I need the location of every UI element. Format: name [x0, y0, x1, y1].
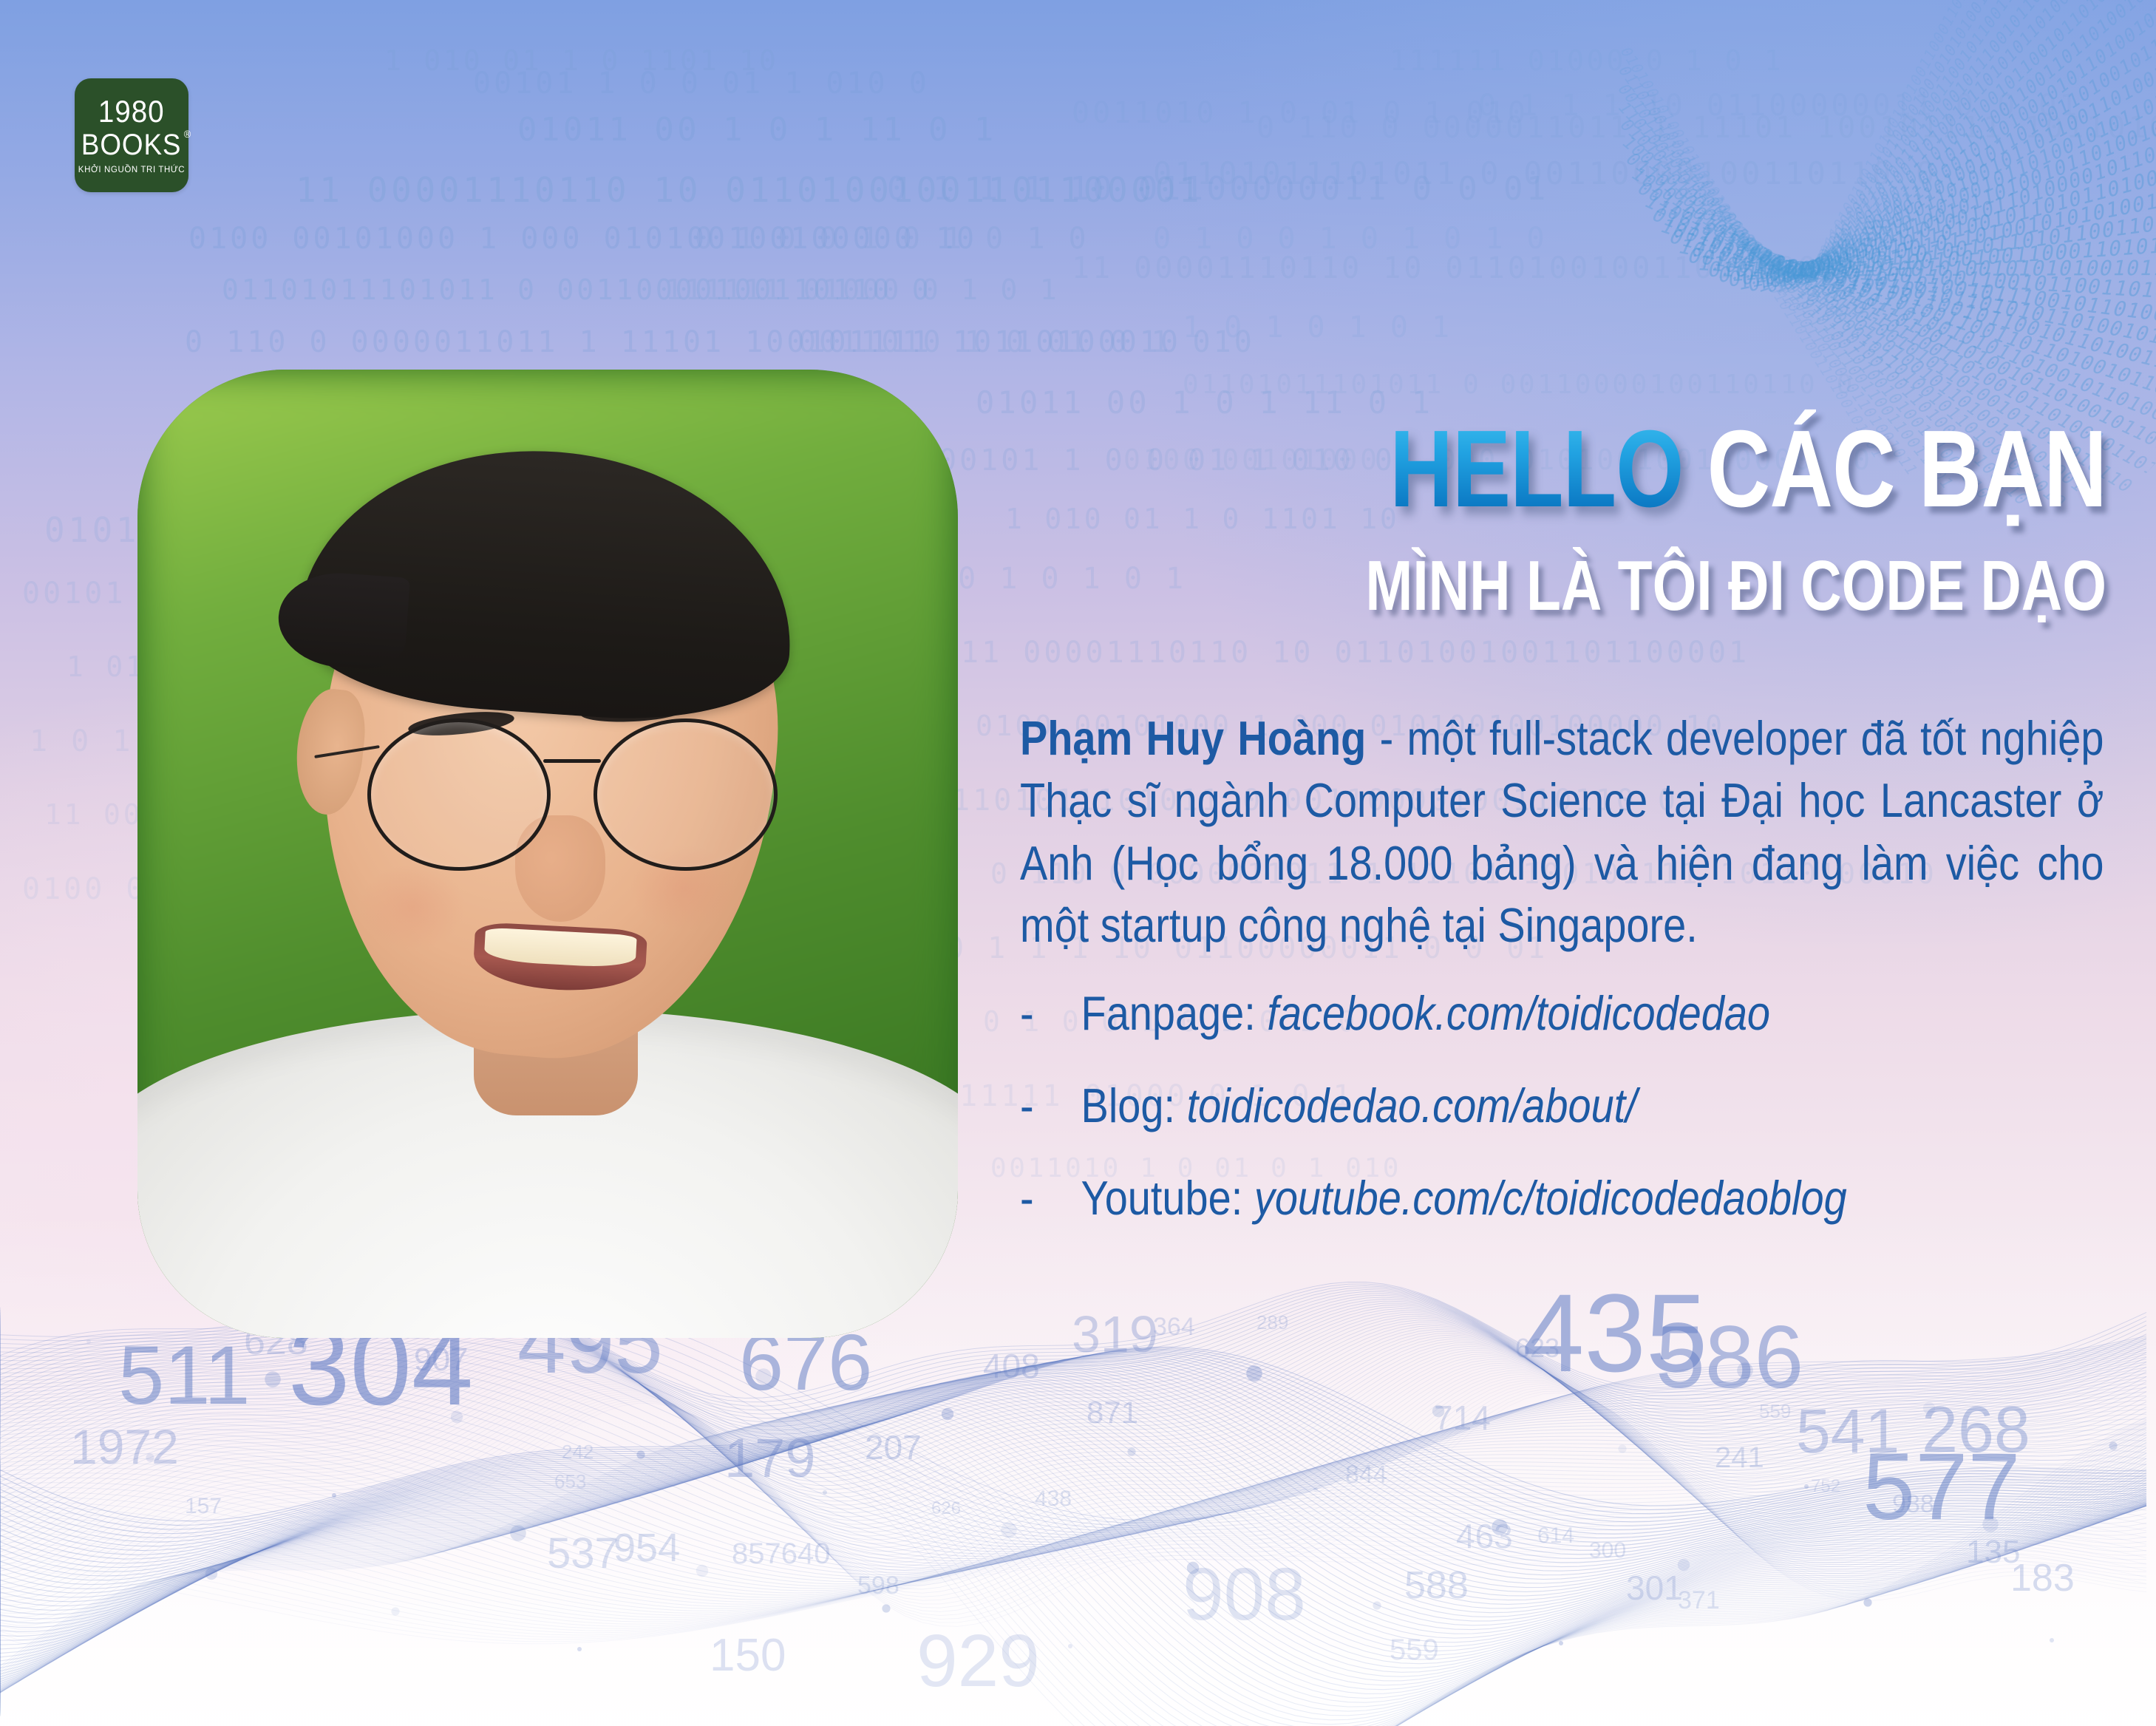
- binary-text-fragment: 11 00001110110 10 01101001001101100001: [1072, 251, 1860, 285]
- binary-text-fragment: 00101 1 0 0 01 1 010 0: [473, 67, 930, 101]
- wave-dot: [2050, 1638, 2054, 1642]
- wave-number: 241: [1715, 1441, 1764, 1475]
- wave-line: [0, 1366, 2146, 1594]
- globe-binary-ring: 1101001011010010110100101010100101001010…: [1738, 142, 2156, 296]
- binary-text-fragment: 111111 01000 0 1 0 1: [665, 273, 1060, 306]
- wave-line: [0, 1358, 2146, 1563]
- wave-line: [0, 1335, 2146, 1509]
- wave-dot: [1068, 1644, 1072, 1648]
- globe-binary-ring: 1010010110100110100101101010110100101101…: [1807, 0, 2156, 279]
- wave-line: [0, 1349, 2146, 1529]
- wave-number: 588: [1404, 1563, 1469, 1608]
- headline-rest: CÁC BẠN: [1707, 408, 2106, 530]
- wave-line: [0, 1373, 2146, 1619]
- wave-line: [0, 1505, 2146, 1624]
- wave-number: 150: [710, 1629, 786, 1682]
- wave-line: [0, 1356, 2146, 1555]
- wave-dot: [1432, 1405, 1444, 1417]
- wave-line: [0, 1425, 2146, 1726]
- wave-line: [0, 1360, 2146, 1572]
- wave-line: [0, 1427, 2146, 1726]
- wave-line: [0, 1396, 2146, 1574]
- bio-block: Phạm Huy Hoàng - một full-stack develope…: [1020, 707, 2106, 1225]
- wave-line: [0, 1365, 2146, 1589]
- wave-line: [0, 1481, 2146, 1614]
- binary-text-fragment: 0 1 0 0 1 0 1 0 1 0: [695, 222, 1089, 256]
- wave-dot: [636, 1450, 645, 1458]
- wave-line: [0, 1365, 2146, 1586]
- wave-line: [0, 1328, 2146, 1494]
- wave-line: [0, 1392, 2146, 1573]
- wave-dot: [391, 1607, 399, 1615]
- globe-binary-ring: 1001101001011010010110100001011010010110…: [1756, 68, 2156, 299]
- globe-binary-ring: 0010110100101101001011010110011001100110…: [1727, 180, 2156, 292]
- wave-number: 752: [1811, 1476, 1840, 1497]
- wave-dot: [1618, 1444, 1626, 1453]
- wave-dot: [1246, 1365, 1262, 1382]
- wave-line: [0, 1376, 2146, 1631]
- binary-text-fragment: 11 00001110110 10 01101001001101100001: [296, 170, 1203, 210]
- wave-line: [0, 1378, 2146, 1614]
- wave-line: [0, 1341, 2146, 1521]
- wave-number: 559: [1759, 1400, 1791, 1423]
- wave-number: 598: [857, 1572, 900, 1600]
- wave-dot: [1373, 1601, 1381, 1609]
- wave-line: [0, 1359, 2146, 1572]
- wave-number: 577: [1863, 1433, 2021, 1541]
- wave-line: [0, 1392, 2146, 1677]
- link-blog[interactable]: -Blog:toidicodedao.com/about/: [1020, 1079, 2104, 1133]
- link-fanpage[interactable]: -Fanpage:facebook.com/toidicodedao: [1020, 987, 2104, 1041]
- wave-dot: [510, 1525, 526, 1541]
- globe-binary-ring: 0110011010010110100110010110010110100110…: [1665, 225, 2156, 410]
- wave-line: [0, 1365, 2146, 1558]
- wave-line: [0, 1380, 2146, 1617]
- wave-number: 929: [917, 1619, 1040, 1704]
- wave-line: [0, 1400, 2146, 1577]
- wave-line: [0, 1530, 2146, 1635]
- link-url[interactable]: toidicodedao.com/about/: [1187, 1079, 1637, 1133]
- binary-text-fragment: 0 110 0 0000011011 1 11101 100101111 101…: [1256, 111, 2156, 145]
- wave-dot: [1678, 1559, 1690, 1571]
- wave-dot: [1804, 1484, 1809, 1489]
- wave-line: [0, 1352, 2146, 1552]
- wave-line: [0, 1549, 2146, 1643]
- wave-number: 614: [1537, 1523, 1574, 1549]
- wave-line: [0, 1525, 2146, 1633]
- wave-line: [0, 1345, 2146, 1532]
- link-url[interactable]: facebook.com/toidicodedao: [1267, 987, 1770, 1041]
- wave-dot: [1001, 1522, 1017, 1538]
- wave-line: [0, 1450, 2146, 1600]
- wave-number: 157: [185, 1494, 222, 1519]
- wave-number: 300: [1589, 1538, 1626, 1563]
- binary-text-fragment: 01101011101011 0 00110000100110110 0: [1153, 155, 1938, 191]
- wave-dot: [451, 1411, 463, 1423]
- globe-binary-ring: 1100101101001101001011010011010010110100…: [1786, 0, 2156, 295]
- link-url[interactable]: youtube.com/c/toidicodedaoblog: [1254, 1172, 1847, 1226]
- wave-line: [0, 1348, 2146, 1526]
- wave-line: [0, 1427, 2146, 1726]
- globe-binary-ring: 0110100100110100100100110001101011010010…: [1717, 218, 2156, 288]
- round-glasses-icon: [367, 718, 778, 864]
- wave-line: [0, 1362, 2146, 1576]
- binary-text-fragment: 0011010 1 0 01 0 1 010: [1072, 96, 1528, 130]
- wave-line: [0, 1321, 2146, 1532]
- wave-line: [0, 1428, 2146, 1726]
- wave-line: [0, 1416, 2146, 1726]
- hair: [293, 435, 802, 730]
- wave-line: [0, 1411, 2146, 1725]
- wave-line: [0, 1337, 2146, 1513]
- wave-line: [0, 1420, 2146, 1726]
- wave-line: [0, 1369, 2146, 1606]
- wave-line: [0, 1370, 2146, 1561]
- wave-line: [0, 1356, 2146, 1555]
- wave-number: 714: [1434, 1398, 1491, 1438]
- binary-text-fragment: 0 1 1 1 10 01100000011 0 0 01: [1478, 89, 2080, 123]
- wave-line: [0, 1418, 2146, 1726]
- wave-number: 907: [414, 1342, 468, 1379]
- wave-line: [0, 1370, 2146, 1611]
- wave-line: [0, 1421, 2146, 1726]
- wave-line: [0, 1407, 2146, 1711]
- wave-line: [0, 1375, 2146, 1627]
- wave-line: [0, 1535, 2146, 1637]
- wave-line: [0, 1470, 2146, 1608]
- wave-dot: [1737, 1362, 1753, 1379]
- wave-number: 179: [724, 1427, 815, 1489]
- wave-line: [0, 1475, 2146, 1611]
- globe-binary-ring: 0101011010010110100101101011010010011010…: [1747, 104, 2156, 297]
- wave-line: [0, 1393, 2146, 1645]
- wave-line: [0, 1384, 2146, 1568]
- binary-text-fragment: 0100 00101000 1 000 010100100100000 10: [188, 222, 977, 256]
- wave-line: [0, 1390, 2146, 1674]
- wave-line: [0, 1404, 2146, 1702]
- binary-text-fragment: 01101011101011 0 00110000100110110 0: [1183, 370, 1855, 400]
- wave-line: [0, 1521, 2146, 1631]
- wave-line: [0, 1445, 2146, 1598]
- wave-line: [0, 1317, 2146, 1530]
- wave-dot: [1923, 1402, 1935, 1414]
- wave-line: [0, 1361, 2146, 1576]
- lens-left: [367, 718, 551, 872]
- binary-text-fragment: 0 1 0 0 1 0 1 0 1 0: [1153, 222, 1548, 256]
- wave-number: 954: [613, 1525, 680, 1571]
- wave-number: 586: [1656, 1306, 1803, 1408]
- glasses-bridge: [543, 759, 601, 763]
- wave-dot: [1559, 1641, 1563, 1645]
- wave-line: [0, 1424, 2146, 1726]
- globe-binary-ring: 0011011010010110100101101100110100101101…: [1780, 0, 2156, 296]
- wave-line: [0, 1420, 2146, 1726]
- globe-binary-ring: 0110100101101001011010010110100101101001…: [1764, 33, 2156, 299]
- wave-line: [0, 1384, 2146, 1657]
- wave-line: [0, 1347, 2146, 1521]
- wave-dot: [205, 1568, 217, 1580]
- wave-line: [0, 1495, 2146, 1620]
- wave-dot: [1127, 1447, 1135, 1455]
- headline-highlight: HELLO: [1390, 408, 1683, 530]
- wave-line: [0, 1393, 2146, 1679]
- wave-line: [0, 1404, 2146, 1579]
- list-bullet: -: [1020, 987, 1081, 1041]
- binary-text-fragment: 111111 01000 0 1 0 1: [1390, 44, 1784, 77]
- wave-dot: [265, 1371, 281, 1387]
- wave-dot: [2109, 1441, 2117, 1450]
- wave-line: [0, 1331, 2146, 1501]
- registered-trademark-icon: ®: [184, 129, 191, 139]
- wave-dot: [942, 1408, 953, 1420]
- wave-line: [0, 1440, 2146, 1595]
- wave-line: [0, 1424, 2146, 1726]
- wave-line: [0, 1363, 2146, 1584]
- wave-dot: [577, 1647, 582, 1651]
- wave-line: [0, 1361, 2146, 1556]
- wave-line: [0, 1465, 2146, 1606]
- wave-line: [0, 1501, 2146, 1622]
- wave-line: [0, 1335, 2146, 1542]
- globe-binary-ring: 1001011010011001011010011001101101001011…: [1656, 215, 2156, 436]
- wave-line: [0, 1387, 2146, 1570]
- teeth: [484, 928, 637, 969]
- wave-line: [0, 1402, 2146, 1698]
- globe-binary-ring: 0110011010010110100110010110010110100110…: [1803, 0, 2156, 285]
- wave-line: [0, 1382, 2146, 1653]
- wave-line: [0, 1399, 2146, 1688]
- binary-text-fragment: 0 110 0 0000011011 1 11101 100101111 101…: [185, 325, 1181, 359]
- wave-dot: [823, 1490, 827, 1495]
- wave-dot: [1982, 1516, 1999, 1532]
- wave-number: 626: [931, 1498, 961, 1519]
- wave-dot: [146, 1453, 154, 1461]
- wave-line: [0, 1387, 2146, 1668]
- globe-binary-ring: 0101001010010100101001010101001011010011…: [1706, 255, 2156, 282]
- wave-line: [0, 1385, 2146, 1661]
- wave-line: [0, 1515, 2146, 1628]
- binary-text-fragment: 01011 00 1 0 1 11 0 1: [517, 111, 997, 149]
- globe-binary-ring: 1100110011001100110011001011001101001011…: [1696, 251, 2156, 315]
- wave-number: 268: [1922, 1392, 2030, 1467]
- contact-link-list: -Fanpage:facebook.com/toidicodedao-Blog:…: [1020, 987, 2104, 1225]
- wave-line: [0, 1353, 2146, 1557]
- binary-text-fragment: 01101011101011 0 00110000100110110 0: [222, 273, 931, 306]
- wave-number: 319: [1072, 1305, 1158, 1364]
- binary-text-fragment: 1 0 1 0 1 0 1: [1183, 310, 1452, 344]
- wave-line: [0, 1374, 2146, 1606]
- wave-line: [0, 1328, 2146, 1537]
- wave-line: [0, 1430, 2146, 1591]
- content-column: HELLO CÁC BẠN MÌNH LÀ TÔI ĐI CODE DẠO Ph…: [1020, 414, 2106, 1263]
- wave-line: [0, 1350, 2146, 1547]
- wave-line: [0, 1352, 2146, 1542]
- wave-dot: [1492, 1519, 1508, 1535]
- wave-line: [0, 1356, 2146, 1562]
- binary-text-fragment: 0 1 1 1 10 01100000011 0 0 01: [887, 170, 1549, 208]
- wave-number: 537: [547, 1529, 619, 1578]
- wave-line: [0, 1318, 2146, 1474]
- logo-tagline: KHỞI NGUỒN TRI THỨC: [78, 166, 185, 175]
- link-label: Blog:: [1081, 1079, 1175, 1133]
- wave-line: [0, 1369, 2146, 1594]
- wave-line: [0, 1359, 2146, 1567]
- wave-line: [0, 1362, 2146, 1580]
- wave-line: [0, 1320, 2146, 1478]
- wave-dot: [1313, 1487, 1318, 1492]
- globe-binary-ring: 1010110100101101001011010010101101001011…: [1772, 0, 2156, 299]
- 1980-books-logo[interactable]: 1980 BOOKS® KHỞI NGUỒN TRI THỨC: [75, 78, 188, 192]
- wave-line: [0, 1382, 2146, 1649]
- wave-line: [0, 1348, 2146, 1542]
- wave-line: [0, 1390, 2146, 1638]
- wave-line: [0, 1376, 2146, 1609]
- wave-line: [0, 1351, 2146, 1538]
- wave-number: 871: [1086, 1395, 1138, 1430]
- wave-line: [0, 1324, 2146, 1486]
- wave-line: [0, 1367, 2146, 1597]
- wave-line: [0, 1307, 2146, 1526]
- wave-line: [0, 1356, 2146, 1559]
- wave-line: [0, 1406, 2146, 1708]
- wave-line: [0, 1373, 2146, 1602]
- wave-number: 559: [1390, 1634, 1439, 1667]
- page-title: HELLO CÁC BẠN: [1237, 414, 2106, 526]
- list-bullet: -: [1020, 1172, 1081, 1226]
- wave-number: 844: [1345, 1461, 1387, 1489]
- wave-line: [0, 1414, 2146, 1584]
- wave-line: [0, 1410, 2146, 1720]
- portrait-photo: [137, 370, 958, 1338]
- wave-line: [0, 1424, 2146, 1589]
- slide-canvas: 11 00001110110 10 0110100100110110000101…: [0, 0, 2156, 1726]
- wave-line: [0, 1333, 2146, 1505]
- wave-line: [0, 1413, 2146, 1726]
- wave-dot: [696, 1565, 708, 1577]
- wave-dot: [1863, 1598, 1871, 1606]
- logo-books-text: BOOKS: [81, 129, 181, 161]
- wave-line: [0, 1485, 2146, 1615]
- wave-number: 908: [1183, 1552, 1306, 1637]
- globe-binary-ring: 0011010110100101101001011100101101001100…: [1811, 0, 2156, 275]
- wave-line: [0, 1378, 2146, 1637]
- wave-line: [0, 1422, 2146, 1726]
- globe-binary-ring: 1100110011001100110011001011001101001011…: [1814, 0, 2126, 270]
- wave-line: [0, 1400, 2146, 1690]
- globe-binary-ring: 0110100100110100100100110001101011010010…: [1817, 0, 2057, 260]
- wave-line: [0, 1414, 2146, 1726]
- wave-line: [0, 1316, 2146, 1470]
- cheek-left: [359, 863, 466, 951]
- wave-number: 183: [2010, 1556, 2075, 1600]
- wave-line: [0, 1410, 2146, 1582]
- wave-dot: [332, 1493, 336, 1498]
- wave-line: [0, 1357, 2146, 1566]
- wave-line: [0, 1353, 2146, 1546]
- wave-line: [0, 1380, 2146, 1645]
- wave-line: [0, 1343, 2146, 1526]
- wave-line: [0, 1350, 2146, 1534]
- wave-line: [0, 1352, 2146, 1552]
- wave-line: [0, 1455, 2146, 1602]
- wave-line: [0, 1387, 2146, 1665]
- wave-line: [0, 1460, 2146, 1604]
- globe-binary-ring: 0011010110100101101001011100101101001100…: [1684, 243, 2156, 350]
- wave-line: [0, 1423, 2146, 1726]
- wave-line: [0, 1394, 2146, 1682]
- wave-line: [0, 1376, 2146, 1563]
- wave-number: 1972: [70, 1418, 179, 1475]
- wave-number: 511: [118, 1328, 251, 1423]
- wave-line: [0, 1435, 2146, 1593]
- person-figure: [137, 370, 958, 1338]
- bio-person-name: Phạm Huy Hoàng: [1020, 711, 1366, 765]
- wave-line: [0, 1322, 2146, 1482]
- wave-line: [0, 1379, 2146, 1640]
- binary-text-fragment: 1 010 01 1 0 1101 10: [384, 44, 779, 77]
- wave-line: [0, 1545, 2146, 1642]
- wave-line: [0, 1330, 2146, 1498]
- wave-number: 988: [1892, 1490, 1934, 1519]
- wave-line: [0, 1339, 2146, 1545]
- wave-line: [0, 1382, 2146, 1622]
- wave-number: 408: [983, 1346, 1040, 1386]
- wave-line: [0, 1401, 2146, 1694]
- wave-number: 653: [554, 1470, 586, 1493]
- wave-line: [0, 1490, 2146, 1617]
- wave-line: [0, 1417, 2146, 1726]
- wave-dot: [1187, 1562, 1199, 1574]
- lens-right: [594, 718, 778, 872]
- wave-number: 623: [1515, 1333, 1560, 1364]
- wave-number: 371: [1678, 1586, 1720, 1615]
- wave-dot: [86, 1339, 91, 1344]
- list-bullet: -: [1020, 1079, 1081, 1133]
- binary-text-fragment: 0011010 1 0 01 0 1 010: [798, 325, 1255, 359]
- globe-binary-ring: 0101101001011010010110100101011010010110…: [1792, 0, 2156, 292]
- wave-number: 364: [1153, 1313, 1195, 1342]
- wave-line: [0, 1312, 2146, 1528]
- wave-line: [0, 1339, 2146, 1517]
- wave-dot: [755, 1368, 772, 1384]
- link-label: Fanpage:: [1081, 987, 1256, 1041]
- globe-binary-ring: 0101001010010100101001010101001011010011…: [1616, 45, 1889, 460]
- wave-line: [0, 1391, 2146, 1642]
- wave-number: 463: [1456, 1516, 1513, 1556]
- wave-line: [0, 1380, 2146, 1566]
- wave-line: [0, 1396, 2146, 1684]
- wave-number: 289: [1256, 1311, 1288, 1334]
- wave-line: [0, 1408, 2146, 1716]
- wave-line: [0, 1421, 2146, 1726]
- wave-line: [0, 1540, 2146, 1640]
- bio-paragraph: Phạm Huy Hoàng - một full-stack develope…: [1020, 707, 2104, 957]
- wave-number: 207: [865, 1427, 922, 1467]
- wave-line: [0, 1331, 2146, 1540]
- logo-line-books: BOOKS®: [81, 130, 181, 160]
- wave-number: 242: [562, 1441, 594, 1464]
- wave-line: [0, 1348, 2146, 1549]
- wave-line: [0, 1367, 2146, 1589]
- link-youtube[interactable]: -Youtube:youtube.com/c/toidicodedaoblog: [1020, 1172, 2104, 1226]
- wave-line: [0, 1368, 2146, 1602]
- wave-line: [0, 1371, 2146, 1598]
- globe-binary-ring: 1001011010011001011010011001101101001011…: [1798, 0, 2156, 289]
- wave-number: 135: [1966, 1534, 2020, 1571]
- link-label: Youtube:: [1081, 1172, 1243, 1226]
- wave-line: [0, 1325, 2146, 1489]
- wave-line: [0, 1384, 2146, 1625]
